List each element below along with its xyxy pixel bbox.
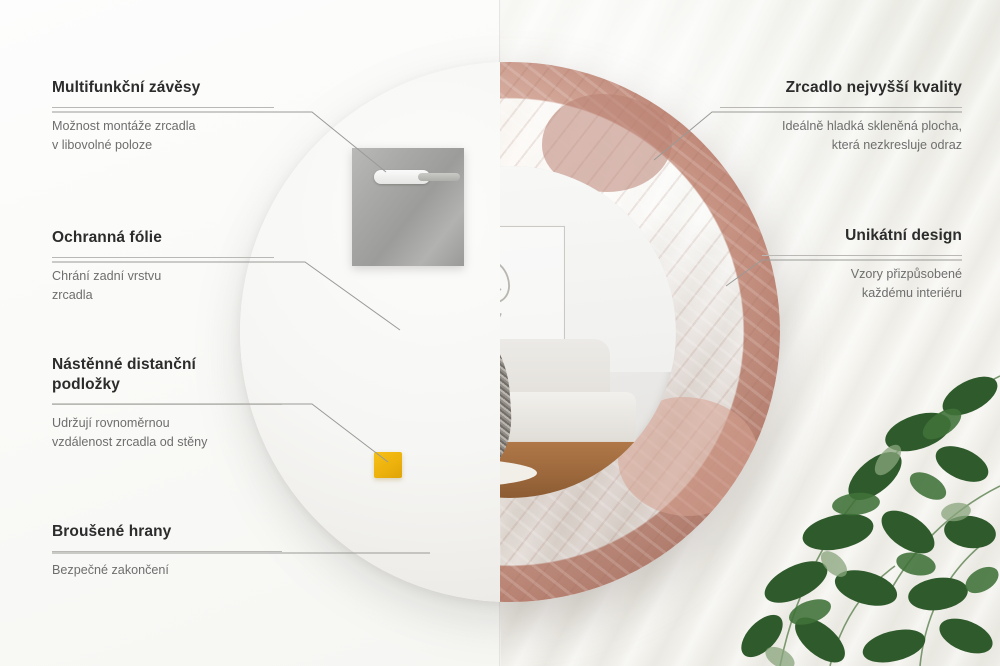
feature-block-multifunkcni-zavesy: Multifunkční závěsy Možnost montáže zrca… — [52, 78, 274, 155]
feature-desc-line-2: vzdálenost zrcadla od stěny — [52, 435, 207, 449]
feature-title-line-1: Nástěnné distanční — [52, 356, 196, 373]
feature-block-brousene-hrany: Broušené hrany Bezpečné zakončení — [52, 522, 282, 580]
feature-description: Chrání zadní vrstvu zrcadla — [52, 267, 274, 305]
feature-title: Zrcadlo nejvyšší kvality — [720, 78, 962, 98]
feature-desc-line-2: každému interiéru — [862, 286, 962, 300]
feature-block-zrcadlo-nejvyssi-kvality: Zrcadlo nejvyšší kvality Ideálně hladká … — [720, 78, 962, 155]
feature-desc-line-2: která nezkresluje odraz — [832, 138, 962, 152]
feature-block-unikatni-design: Unikátní design Vzory přizpůsobené každé… — [762, 226, 962, 303]
feature-desc-line-1: Ideálně hladká skleněná plocha, — [782, 119, 962, 133]
feature-description: Vzory přizpůsobené každému interiéru — [762, 265, 962, 303]
feature-description: Možnost montáže zrcadla v libovolné polo… — [52, 117, 274, 155]
feature-desc-line-1: Chrání zadní vrstvu — [52, 269, 161, 283]
feature-rule — [52, 257, 274, 258]
feature-rule — [720, 107, 962, 108]
keyhole-slot — [374, 170, 430, 184]
feature-desc-line-1: Bezpečné zakončení — [52, 563, 169, 577]
feature-description: Ideálně hladká skleněná plocha, která ne… — [720, 117, 962, 155]
mirror-back-disc — [240, 62, 500, 602]
reflected-sofa-seat — [500, 392, 636, 448]
feature-title: Unikátní design — [762, 226, 962, 246]
feature-block-ochranna-folie: Ochranná fólie Chrání zadní vrstvu zrcad… — [52, 228, 274, 305]
feature-rule — [762, 255, 962, 256]
feature-title: Broušené hrany — [52, 522, 282, 542]
feature-title: Ochranná fólie — [52, 228, 274, 248]
feature-rule — [52, 107, 274, 108]
feature-rule — [52, 404, 282, 405]
wall-spacer-pad — [374, 452, 402, 478]
feature-block-distancni-podlozky: Nástěnné distanční podložky Udržují rovn… — [52, 355, 282, 452]
feature-desc-line-1: Udržují rovnoměrnou — [52, 416, 170, 430]
feature-desc-line-1: Vzory přizpůsobené — [851, 267, 962, 281]
feature-desc-line-2: v libovolné poloze — [52, 138, 152, 152]
feature-desc-line-2: zrcadla — [52, 288, 93, 302]
feature-title: Nástěnné distanční podložky — [52, 355, 282, 395]
mirror-glass — [500, 166, 676, 498]
feature-description: Bezpečné zakončení — [52, 561, 282, 580]
feature-rule — [52, 551, 282, 552]
hanger-plate — [352, 148, 464, 266]
feature-description: Udržují rovnoměrnou vzdálenost zrcadla o… — [52, 414, 282, 452]
feature-title: Multifunkční závěsy — [52, 78, 274, 98]
feature-desc-line-1: Možnost montáže zrcadla — [52, 119, 196, 133]
product-infographic: Multifunkční závěsy Možnost montáže zrca… — [0, 0, 1000, 666]
feature-title-line-2: podložky — [52, 376, 120, 393]
